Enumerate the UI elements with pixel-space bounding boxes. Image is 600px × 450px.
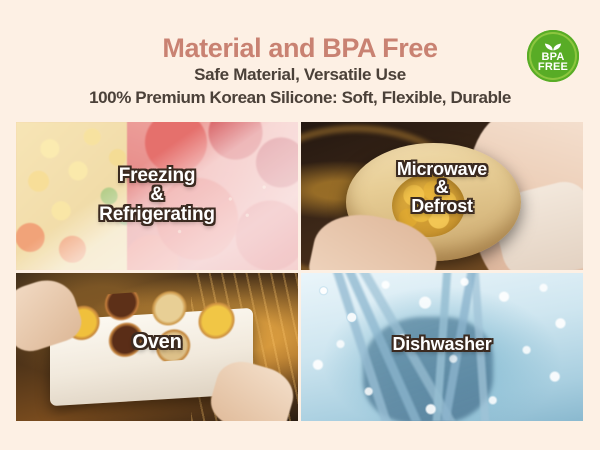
page-title: Material and BPA Free — [0, 33, 600, 64]
label-line-1: Microwave — [301, 160, 583, 178]
panel-oven: Oven — [16, 273, 298, 421]
label-line-2: & — [301, 178, 583, 196]
header: Material and BPA Free Safe Material, Ver… — [0, 0, 600, 122]
label-line-3: Defrost — [301, 197, 583, 215]
panel-label-dishwasher: Dishwasher — [301, 335, 583, 353]
badge-line-1: BPA — [541, 52, 564, 62]
bpa-free-badge: BPA FREE — [524, 27, 582, 85]
subtitle-line-1: Safe Material, Versatile Use — [0, 65, 600, 85]
leaf-icon — [544, 41, 562, 51]
panel-microwave-defrost: Microwave & Defrost — [301, 122, 583, 270]
panel-freezing-refrigerating: Freezing & Refrigerating — [16, 122, 298, 270]
label-line-1: Oven — [16, 332, 298, 352]
label-line-2: & — [16, 185, 298, 204]
badge-circle: BPA FREE — [527, 30, 579, 82]
label-line-3: Refrigerating — [16, 205, 298, 224]
baked-tarts — [55, 284, 252, 369]
badge-line-2: FREE — [538, 62, 568, 72]
panel-label-oven: Oven — [16, 332, 298, 352]
panel-dishwasher: Dishwasher — [301, 273, 583, 421]
product-infographic: Material and BPA Free Safe Material, Ver… — [0, 0, 600, 450]
panel-label-freezing: Freezing & Refrigerating — [16, 166, 298, 224]
feature-grid: Freezing & Refrigerating Microwave & Def… — [16, 122, 583, 421]
subtitle-line-2: 100% Premium Korean Silicone: Soft, Flex… — [0, 88, 600, 108]
label-line-1: Freezing — [16, 166, 298, 185]
panel-label-microwave: Microwave & Defrost — [301, 160, 583, 215]
label-line-1: Dishwasher — [301, 335, 583, 353]
